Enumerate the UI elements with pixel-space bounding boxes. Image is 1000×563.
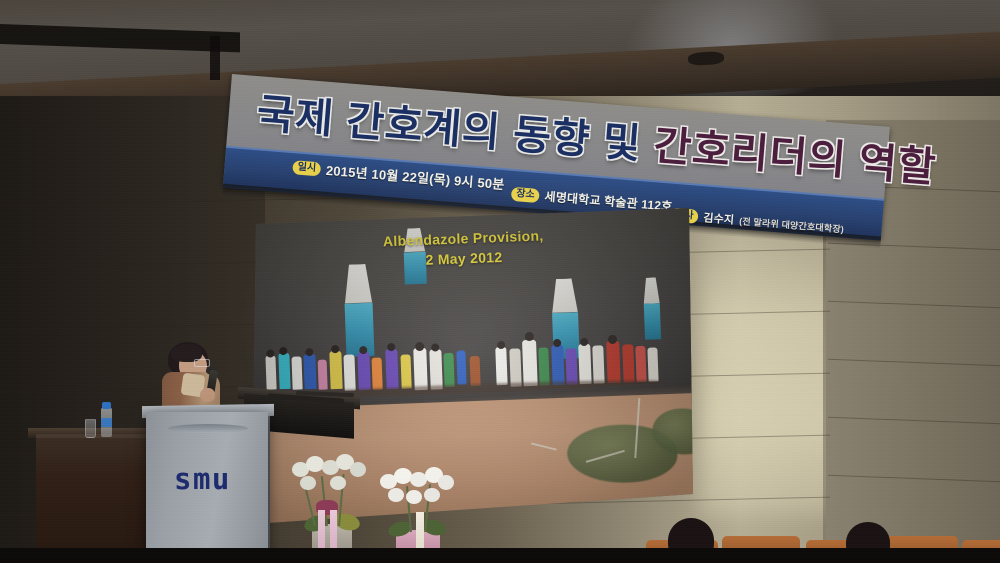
banner-meta-speaker-name: 김수지 [703,209,735,227]
slide-person [278,353,290,389]
tent-roof [641,277,662,304]
orchid-bloom [406,490,422,504]
slide-person [622,344,634,382]
banner-title-part-2: 간호리더의 역할 [652,122,938,191]
slide-person [385,349,398,389]
drinking-glass [85,419,96,438]
slide-person [443,353,454,387]
orchid-bloom [438,475,454,490]
slide-tent [340,264,377,357]
orchid-bloom [306,456,324,472]
slide-person [606,341,621,383]
slide-person [456,350,466,384]
slide-person [318,359,328,389]
orchid-bloom [350,462,366,477]
tent-roof [548,278,581,313]
tent-body [644,303,662,340]
slide-person [647,347,658,381]
orchid-bloom [300,476,316,490]
smu-logo: smu [174,462,231,496]
slide-person [509,348,521,386]
slide-person [551,345,564,385]
slide-person [565,348,577,384]
slide-person [303,354,316,389]
foreground-floor [0,548,1000,563]
slide-person [578,344,591,384]
orchid-bloom [424,488,440,502]
podium: smu [146,412,268,563]
slide-person [429,349,442,389]
slide-person [329,351,342,389]
orchid-plant [286,452,378,563]
slide-person [357,352,370,390]
slide-person [592,345,604,383]
water-bottle-label [101,418,112,427]
slide-person [265,355,276,389]
lecture-hall-photo: 국제 간호계의 동향 및 간호리더의 역할 일시 2015년 10월 22일(목… [0,0,1000,563]
podium-groove [168,424,248,433]
slide-person [522,340,538,386]
slide-tent [641,277,663,340]
slide-person [495,347,507,385]
banner-meta-date-tag: 일시 [292,160,321,176]
banner-meta-location-tag: 장소 [511,186,540,202]
slide-person [470,356,481,386]
slide-person [635,346,646,382]
slide-person [413,348,428,390]
slide-person [400,354,411,388]
orchid-bloom [330,476,346,490]
orchid-bloom [388,488,404,502]
presenter-hand [200,388,215,402]
slide-person [291,356,302,389]
slide-person [538,347,549,385]
orchid-bloom [394,468,412,484]
water-bottle-cap [102,402,111,409]
ceiling-beam-drop [210,36,220,80]
slide-person [343,354,355,390]
slide-person [372,357,383,389]
